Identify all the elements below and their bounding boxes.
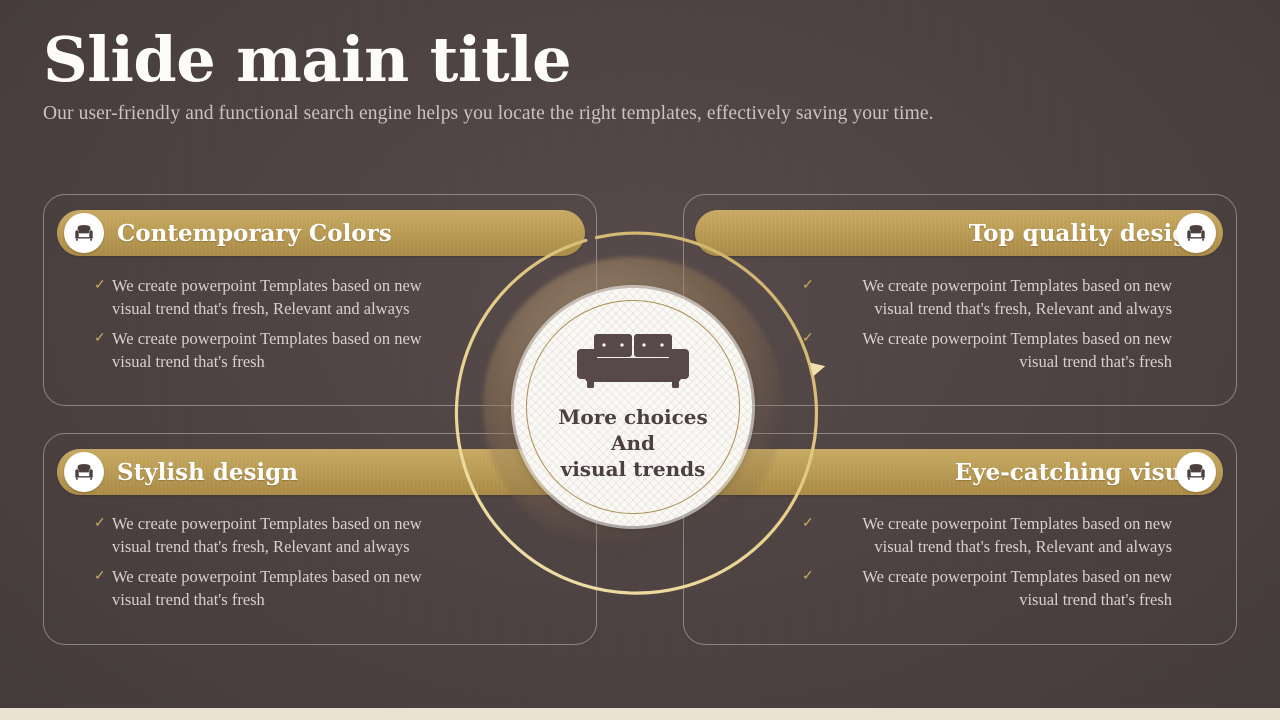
page-subtitle: Our user-friendly and functional search …	[43, 103, 1223, 125]
bullet-list-eye-catching-visual: ✓ We create powerpoint Templates based o…	[820, 512, 1172, 618]
list-item-text: We create powerpoint Templates based on …	[112, 514, 422, 556]
bullet-list-top-quality-design: ✓ We create powerpoint Templates based o…	[820, 274, 1172, 380]
armchair-icon	[1184, 460, 1208, 484]
armchair-icon	[72, 460, 96, 484]
armchair-icon-badge-top-quality-design	[1176, 213, 1216, 253]
armchair-icon-badge-contemporary-colors	[64, 213, 104, 253]
list-item-text: We create powerpoint Templates based on …	[112, 329, 422, 371]
card-title-contemporary-colors: Contemporary Colors	[117, 210, 392, 256]
list-item-text: We create powerpoint Templates based on …	[862, 567, 1172, 609]
list-item-text: We create powerpoint Templates based on …	[862, 514, 1172, 556]
bullet-list-stylish-design: ✓ We create powerpoint Templates based o…	[112, 512, 464, 618]
card-title-eye-catching-visual: Eye-catching visual	[955, 449, 1205, 495]
check-icon: ✓	[94, 274, 106, 297]
page-title: Slide main title	[43, 28, 1223, 91]
slide-header: Slide main title Our user-friendly and f…	[43, 28, 1223, 125]
list-item: ✓ We create powerpoint Templates based o…	[820, 274, 1172, 320]
bullet-list-contemporary-colors: ✓ We create powerpoint Templates based o…	[112, 274, 464, 380]
card-title-top-quality-design: Top quality design	[969, 210, 1205, 256]
armchair-icon-badge-eye-catching-visual	[1176, 452, 1216, 492]
check-icon: ✓	[802, 327, 814, 350]
card-title-stylish-design: Stylish design	[117, 449, 298, 495]
list-item: ✓ We create powerpoint Templates based o…	[820, 512, 1172, 558]
check-icon: ✓	[94, 327, 106, 350]
check-icon: ✓	[94, 565, 106, 588]
list-item-text: We create powerpoint Templates based on …	[862, 329, 1172, 371]
list-item: ✓ We create powerpoint Templates based o…	[112, 274, 464, 320]
bottom-accent-strip	[0, 708, 1280, 720]
list-item: ✓ We create powerpoint Templates based o…	[112, 565, 464, 611]
list-item-text: We create powerpoint Templates based on …	[112, 567, 422, 609]
check-icon: ✓	[802, 274, 814, 297]
list-item-text: We create powerpoint Templates based on …	[862, 276, 1172, 318]
check-icon: ✓	[802, 512, 814, 535]
check-icon: ✓	[802, 565, 814, 588]
armchair-icon-badge-stylish-design	[64, 452, 104, 492]
slide-canvas: Slide main title Our user-friendly and f…	[0, 0, 1280, 720]
list-item: ✓ We create powerpoint Templates based o…	[112, 327, 464, 373]
check-icon: ✓	[94, 512, 106, 535]
list-item-text: We create powerpoint Templates based on …	[112, 276, 422, 318]
list-item: ✓ We create powerpoint Templates based o…	[820, 327, 1172, 373]
list-item: ✓ We create powerpoint Templates based o…	[820, 565, 1172, 611]
armchair-icon	[1184, 221, 1208, 245]
list-item: ✓ We create powerpoint Templates based o…	[112, 512, 464, 558]
armchair-icon	[72, 221, 96, 245]
